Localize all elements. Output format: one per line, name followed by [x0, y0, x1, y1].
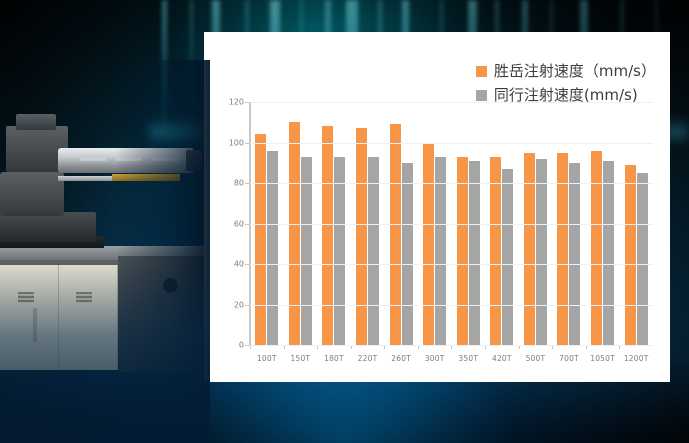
bar-series1[interactable] [457, 157, 468, 345]
y-axis-tick-label: 60 [234, 219, 244, 228]
gridline [250, 183, 653, 184]
x-axis-tick-label: 300T [418, 354, 452, 363]
plot-area-wrapper: 020406080100120 100T150T180T220T260T300T… [204, 32, 670, 382]
bar-series1[interactable] [356, 128, 367, 345]
bar-series2[interactable] [569, 163, 580, 345]
x-axis-tick-label: 180T [317, 354, 351, 363]
bar-series2[interactable] [334, 157, 345, 345]
slide-canvas: 胜岳注射速度（mm/s） 同行注射速度(mm/s) 02040608010012… [0, 0, 689, 443]
bar-series2[interactable] [502, 169, 513, 345]
y-axis-tick [245, 264, 250, 265]
bar-series1[interactable] [625, 165, 636, 345]
x-axis-tick-label: 420T [485, 354, 519, 363]
y-axis-tick-label: 120 [229, 98, 244, 107]
bar-series2[interactable] [637, 173, 648, 345]
plot-area: 100T150T180T220T260T300T350T420T500T700T… [250, 102, 653, 345]
bar-series1[interactable] [255, 134, 266, 345]
x-axis-tick-label: 500T [519, 354, 553, 363]
bar-series2[interactable] [301, 157, 312, 345]
y-axis-tick [245, 224, 250, 225]
bar-series1[interactable] [390, 124, 401, 345]
y-axis-tick [245, 305, 250, 306]
y-axis-tick [245, 183, 250, 184]
x-axis-tick-label: 1200T [619, 354, 653, 363]
gridline [250, 264, 653, 265]
gridline [250, 345, 653, 346]
bar-series1[interactable] [591, 151, 602, 345]
y-axis-tick-label: 80 [234, 179, 244, 188]
bar-series1[interactable] [490, 157, 501, 345]
bar-series1[interactable] [289, 122, 300, 345]
bar-series2[interactable] [435, 157, 446, 345]
y-axis-tick-label: 20 [234, 300, 244, 309]
bar-series2[interactable] [368, 157, 379, 345]
bar-series2[interactable] [267, 151, 278, 345]
bar-series2[interactable] [469, 161, 480, 345]
gridline [250, 143, 653, 144]
y-axis-tick-label: 0 [239, 341, 244, 350]
y-axis-tick [245, 345, 250, 346]
x-axis-tick-label: 260T [384, 354, 418, 363]
injection-molding-machine-photo [0, 60, 210, 443]
x-axis-tick-label: 700T [552, 354, 586, 363]
bar-series2[interactable] [536, 159, 547, 345]
y-axis-tick [245, 102, 250, 103]
y-axis-tick-label: 40 [234, 260, 244, 269]
gridline [250, 102, 653, 103]
gridline [250, 224, 653, 225]
chart-card: 胜岳注射速度（mm/s） 同行注射速度(mm/s) 02040608010012… [204, 32, 670, 382]
bar-series1[interactable] [423, 143, 434, 346]
bar-series1[interactable] [557, 153, 568, 345]
x-axis-tick-label: 150T [284, 354, 318, 363]
x-axis-tick-label: 350T [451, 354, 485, 363]
photo-fade-overlay [0, 60, 210, 443]
bar-series1[interactable] [322, 126, 333, 345]
x-axis-tick-label: 220T [351, 354, 385, 363]
x-axis-tick-label: 1050T [586, 354, 620, 363]
y-axis-tick-label: 100 [229, 138, 244, 147]
bar-series2[interactable] [603, 161, 614, 345]
bar-series2[interactable] [402, 163, 413, 345]
y-axis-tick-labels: 020406080100120 [214, 32, 244, 382]
bar-series1[interactable] [524, 153, 535, 345]
y-axis-tick [245, 143, 250, 144]
x-axis-tick-label: 100T [250, 354, 284, 363]
gridline [250, 305, 653, 306]
